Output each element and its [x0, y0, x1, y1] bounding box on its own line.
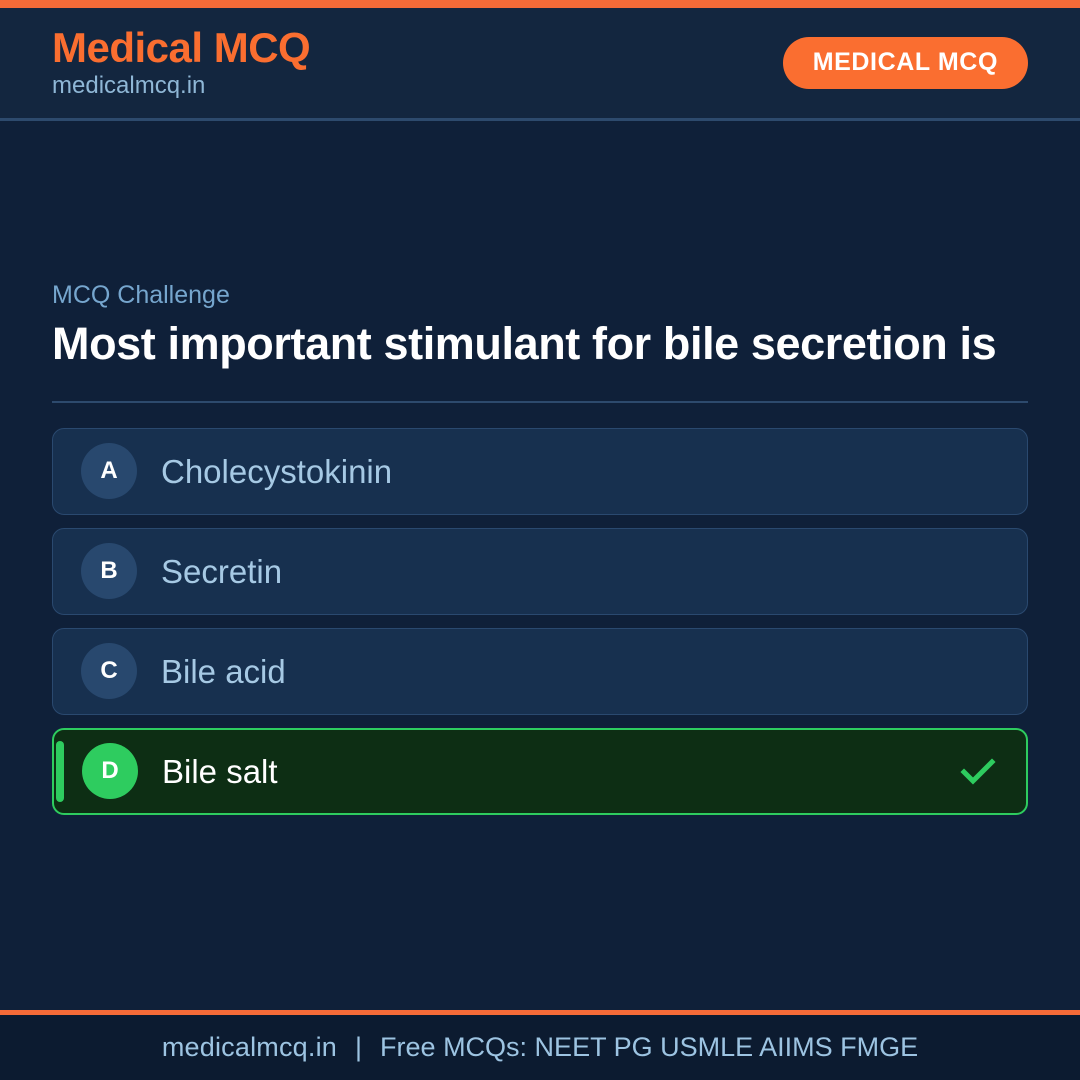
page-footer: medicalmcq.in | Free MCQs: NEET PG USMLE… — [0, 1010, 1080, 1080]
footer-separator: | — [355, 1034, 362, 1061]
mcq-card: Medical MCQ medicalmcq.in MEDICAL MCQ MC… — [0, 0, 1080, 1080]
option-letter-badge: A — [81, 443, 137, 499]
option-letter-badge: C — [81, 643, 137, 699]
correct-accent-bar — [56, 741, 64, 802]
option-letter-badge: D — [82, 743, 138, 799]
option-letter-badge: B — [81, 543, 137, 599]
check-icon — [958, 751, 998, 791]
brand-subtitle: medicalmcq.in — [52, 72, 310, 100]
option-label: Bile acid — [161, 652, 286, 692]
option-row-a[interactable]: A Cholecystokinin — [52, 428, 1028, 515]
option-label: Bile salt — [162, 752, 278, 792]
brand-block: Medical MCQ medicalmcq.in — [52, 26, 310, 100]
option-row-c[interactable]: C Bile acid — [52, 628, 1028, 715]
question-text: Most important stimulant for bile secret… — [52, 318, 1028, 371]
footer-site-link[interactable]: medicalmcq.in — [162, 1034, 337, 1061]
footer-tags: Free MCQs: NEET PG USMLE AIIMS FMGE — [380, 1034, 918, 1061]
eyebrow-label: MCQ Challenge — [52, 280, 1028, 310]
page-header: Medical MCQ medicalmcq.in MEDICAL MCQ — [0, 8, 1080, 121]
brand-title: Medical MCQ — [52, 26, 310, 70]
question-block: MCQ Challenge Most important stimulant f… — [52, 280, 1028, 815]
main-content: MCQ Challenge Most important stimulant f… — [0, 121, 1080, 1010]
options-list: A Cholecystokinin B Secretin — [52, 428, 1028, 815]
header-badge[interactable]: MEDICAL MCQ — [783, 37, 1028, 89]
option-label: Secretin — [161, 552, 282, 592]
option-row-d[interactable]: D Bile salt — [52, 728, 1028, 815]
option-row-b[interactable]: B Secretin — [52, 528, 1028, 615]
question-divider — [52, 401, 1028, 403]
top-accent-bar — [0, 0, 1080, 8]
option-label: Cholecystokinin — [161, 452, 392, 492]
